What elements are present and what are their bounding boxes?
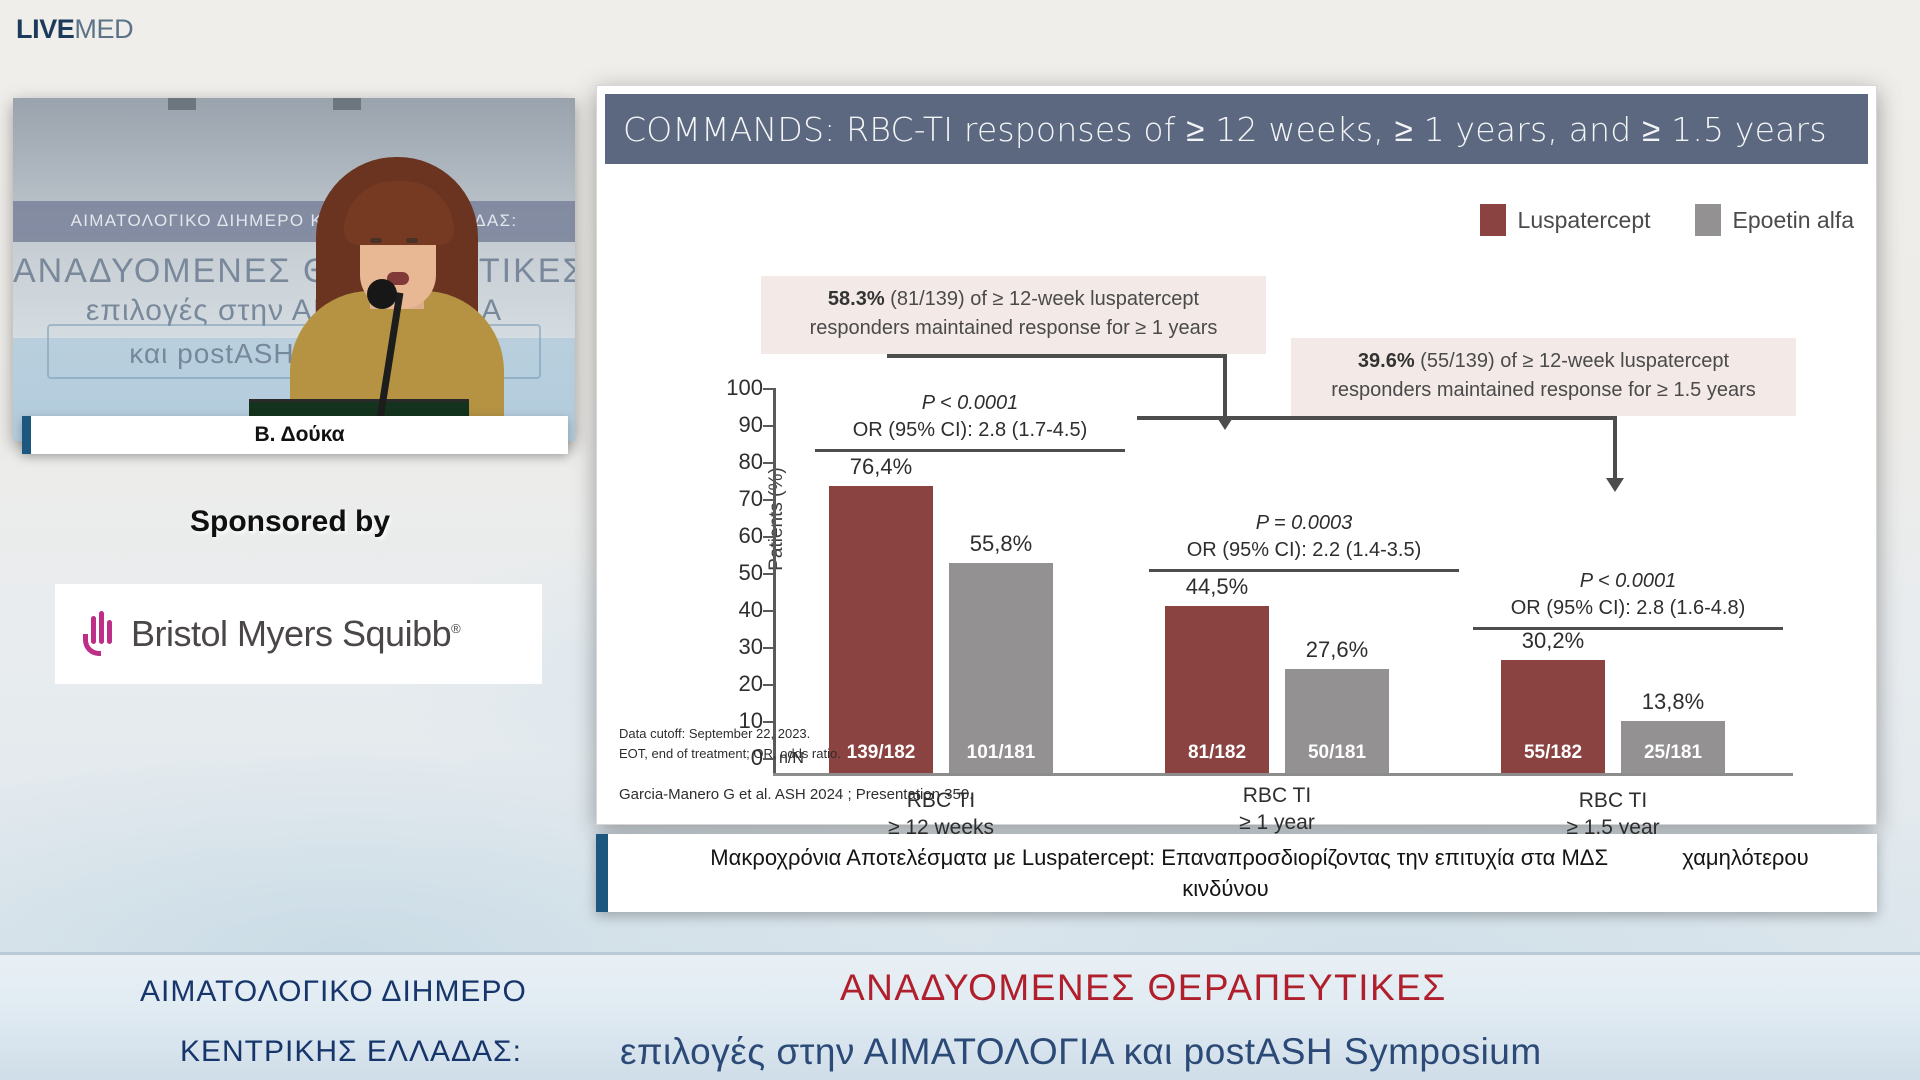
bms-hand-icon — [83, 612, 117, 656]
livemed-logo: LIVEMED — [16, 14, 133, 45]
speaker-eye-left — [370, 238, 382, 243]
slide-title-bar: COMMANDS: RBC-TI responses of ≥ 12 weeks… — [605, 94, 1868, 164]
bar-value-epoetin-1year: 27,6% — [1306, 637, 1368, 663]
bar-epoetin-12weeks[interactable]: 55,8% 101/181 — [949, 563, 1053, 773]
speaker-eye-right — [406, 238, 418, 243]
slide-footnotes: Data cutoff: September 22, 2023. EOT, en… — [619, 724, 841, 763]
banner-right-line-1: ΑΝΑΔΥΟΜΕΝΕΣ ΘΕΡΑΠΕΥΤΙΚΕΣ — [840, 967, 1447, 1009]
footnote-abbreviations: EOT, end of treatment; OR, odds ratio. — [619, 744, 841, 764]
bar-value-epoetin-12weeks: 55,8% — [970, 531, 1032, 557]
legend-swatch-luspatercept — [1480, 204, 1506, 236]
x-cat-2-line2: ≥ 1 year — [1165, 810, 1389, 837]
y-tick-60: 60 — [715, 523, 763, 549]
backdrop-fixture-left — [168, 98, 196, 110]
session-caption: Μακροχρόνια Αποτελέσματα με Luspatercept… — [596, 834, 1877, 912]
y-tick-40: 40 — [715, 597, 763, 623]
sponsored-by-heading: Sponsored by — [0, 505, 580, 539]
sponsor-logo-card: Bristol Myers Squibb® — [55, 584, 542, 684]
callout-1-year: 58.3% (81/139) of ≥ 12-week luspatercept… — [761, 276, 1266, 354]
speaker-name: Β. Δούκα — [254, 423, 344, 447]
x-cat-2-line1: RBC TI — [1165, 783, 1389, 810]
caption-text: Μακροχρόνια Αποτελέσματα με Luspatercept… — [608, 842, 1877, 904]
chart-legend: Luspatercept Epoetin alfa — [1480, 204, 1854, 236]
bar-nN-luspatercept-12weeks: 139/182 — [847, 742, 916, 773]
speaker-name-plate: Β. Δούκα — [22, 416, 568, 454]
callout-1-year-rest: (81/139) of ≥ 12-week luspatercept — [885, 288, 1199, 310]
bar-nN-epoetin-12weeks: 101/181 — [967, 742, 1036, 773]
y-tick-30: 30 — [715, 634, 763, 660]
bar-value-luspatercept-1year: 44,5% — [1186, 574, 1248, 600]
speaker-video[interactable]: ΑΙΜΑΤΟΛΟΓΙΚΟ ΔΙΗΜΕΡΟ ΚΕΝΤΡΙΚΗΣ ΕΛΛΑΔΑΣ: … — [13, 98, 575, 441]
legend-item-luspatercept: Luspatercept — [1480, 204, 1651, 236]
bar-nN-luspatercept-15year: 55/182 — [1524, 742, 1582, 773]
video-frame: ΑΙΜΑΤΟΛΟΓΙΚΟ ΔΙΗΜΕΡΟ ΚΕΝΤΡΙΚΗΣ ΕΛΛΑΔΑΣ: … — [13, 98, 575, 441]
callout-15-year-pct: 39.6% — [1358, 350, 1415, 372]
bar-epoetin-15year[interactable]: 13,8% 25/181 — [1621, 721, 1725, 773]
bar-luspatercept-12weeks[interactable]: 76,4% 139/182 — [829, 486, 933, 773]
bar-nN-luspatercept-1year: 81/182 — [1188, 742, 1246, 773]
bar-nN-epoetin-1year: 50/181 — [1308, 742, 1366, 773]
callout-15-year-rest: (55/139) of ≥ 12-week luspatercept — [1415, 350, 1729, 372]
logo-live: LIVE — [16, 14, 74, 44]
event-banner: ΑΙΜΑΤΟΛΟΓΙΚΟ ΔΙΗΜΕΡΟ ΚΕΝΤΡΙΚΗΣ ΕΛΛΑΔΑΣ: … — [0, 952, 1920, 1080]
y-tick-100: 100 — [715, 375, 763, 401]
sponsor-name-text: Bristol Myers Squibb — [131, 613, 451, 654]
presentation-slide[interactable]: COMMANDS: RBC-TI responses of ≥ 12 weeks… — [596, 85, 1877, 825]
callout-1-year-pct: 58.3% — [828, 288, 885, 310]
y-tick-90: 90 — [715, 412, 763, 438]
bar-luspatercept-1year[interactable]: 44,5% 81/182 — [1165, 606, 1269, 773]
logo-med: MED — [74, 14, 133, 44]
sponsor-name: Bristol Myers Squibb® — [131, 613, 460, 655]
bar-value-luspatercept-15year: 30,2% — [1522, 628, 1584, 654]
legend-label-epoetin-alfa: Epoetin alfa — [1733, 207, 1854, 234]
footnote-data-cutoff: Data cutoff: September 22, 2023. — [619, 724, 841, 744]
legend-label-luspatercept: Luspatercept — [1518, 207, 1651, 234]
bar-series-container: 76,4% 139/182 55,8% 101/181 44,5% 81/182… — [773, 395, 1793, 773]
slide-canvas: COMMANDS: RBC-TI responses of ≥ 12 weeks… — [596, 85, 1877, 825]
microphone-icon — [367, 279, 397, 309]
bar-luspatercept-15year[interactable]: 30,2% 55/182 — [1501, 660, 1605, 773]
slide-title: COMMANDS: RBC-TI responses of ≥ 12 weeks… — [623, 110, 1827, 149]
banner-right-line-2: επιλογές στην ΑΙΜΑΤΟΛΟΓΙΑ και postASH Sy… — [620, 1031, 1542, 1073]
bar-value-epoetin-15year: 13,8% — [1642, 689, 1704, 715]
caption-line-1: Μακροχρόνια Αποτελέσματα με Luspatercept… — [676, 845, 1642, 870]
y-tick-50: 50 — [715, 560, 763, 586]
bar-nN-epoetin-15year: 25/181 — [1644, 742, 1702, 773]
callout-1-year-line2: responders maintained response for ≥ 1 y… — [810, 317, 1218, 339]
y-tick-20: 20 — [715, 671, 763, 697]
legend-swatch-epoetin-alfa — [1695, 204, 1721, 236]
x-axis-line — [773, 773, 1793, 776]
speaker-figure — [282, 141, 512, 441]
banner-left-line-1: ΑΙΜΑΤΟΛΟΓΙΚΟ ΔΙΗΜΕΡΟ — [140, 975, 527, 1009]
y-tick-70: 70 — [715, 486, 763, 512]
y-tick-80: 80 — [715, 449, 763, 475]
bar-epoetin-1year[interactable]: 27,6% 50/181 — [1285, 669, 1389, 773]
bar-value-luspatercept-12weeks: 76,4% — [850, 454, 912, 480]
backdrop-fixture-right — [333, 98, 361, 110]
legend-item-epoetin-alfa: Epoetin alfa — [1695, 204, 1854, 236]
bar-chart: Patients (%) 100 90 80 70 60 50 40 30 20… — [773, 398, 1793, 776]
banner-left-line-2: ΚΕΝΤΡΙΚΗΣ ΕΛΛΑΔΑΣ: — [180, 1035, 522, 1069]
slide-reference: Garcia-Manero G et al. ASH 2024 ; Presen… — [619, 786, 973, 803]
sponsor-trademark: ® — [451, 621, 460, 636]
x-cat-3-line1: RBC TI — [1501, 788, 1725, 815]
